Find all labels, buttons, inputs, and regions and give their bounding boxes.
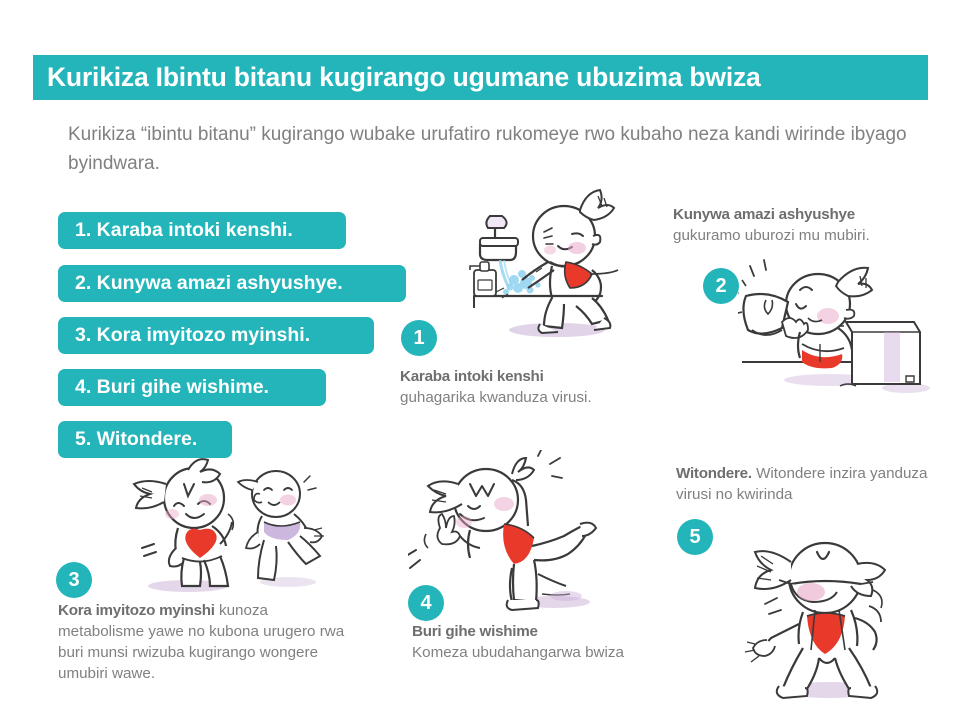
step-badge-5: 5 [677,519,713,555]
step-heading-3: Kora imyitozo myinshi [58,602,215,619]
two-people-exercising-illustration [108,452,348,594]
step-caption-1: Karaba intoki kenshi guhagarika kwanduza… [400,366,655,408]
step-caption-3: Kora imyitozo myinshi kunoza metabolisme… [58,600,358,684]
list-item-2[interactable]: 2. Kunywa amazi ashyushye. [58,265,406,302]
step-heading-4: Buri gihe wishime [412,623,538,640]
step-badge-4: 4 [408,585,444,621]
step-caption-2: Kunywa amazi ashyushye gukuramo uburozi … [673,204,935,246]
list-item-2-label: 2. Kunywa amazi ashyushye. [75,272,343,295]
step-body-4: Komeza ubudahangarwa bwiza [412,644,624,661]
step-heading-5: Witondere. [676,465,752,482]
step-heading-1: Karaba intoki kenshi [400,368,544,385]
step-caption-5: Witondere. Witondere inzira yanduza viru… [676,463,934,505]
step-body-2: gukuramo uburozi mu mubiri. [673,227,870,244]
step-body-1: guhagarika kwanduza virusi. [400,389,592,406]
handwashing-at-faucet-illustration [452,188,642,340]
step-caption-4: Buri gihe wishime Komeza ubudahangarwa b… [412,621,682,663]
step-heading-2: Kunywa amazi ashyushye [673,206,855,223]
step-badge-1: 1 [401,320,437,356]
step-badge-2: 2 [703,268,739,304]
step-badge-3: 3 [56,562,92,598]
list-item-4-label: 4. Buri gihe wishime. [75,376,269,399]
person-wearing-mask-illustration [733,518,933,710]
list-item-1-label: 1. Karaba intoki kenshi. [75,219,293,242]
list-item-4[interactable]: 4. Buri gihe wishime. [58,369,326,406]
page-title: Kurikiza Ibintu bitanu kugirango ugumane… [47,62,761,93]
list-item-3-label: 3. Kora imyitozo myinshi. [75,324,310,347]
list-item-5-label: 5. Witondere. [75,428,197,451]
list-item-1[interactable]: 1. Karaba intoki kenshi. [58,212,346,249]
header-bar: Kurikiza Ibintu bitanu kugirango ugumane… [33,55,928,100]
subtitle-text: Kurikiza “ibintu bitanu” kugirango wubak… [68,120,928,178]
list-item-3[interactable]: 3. Kora imyitozo myinshi. [58,317,374,354]
infographic-slide: Kurikiza Ibintu bitanu kugirango ugumane… [0,0,960,720]
drinking-hot-water-illustration [738,252,950,394]
